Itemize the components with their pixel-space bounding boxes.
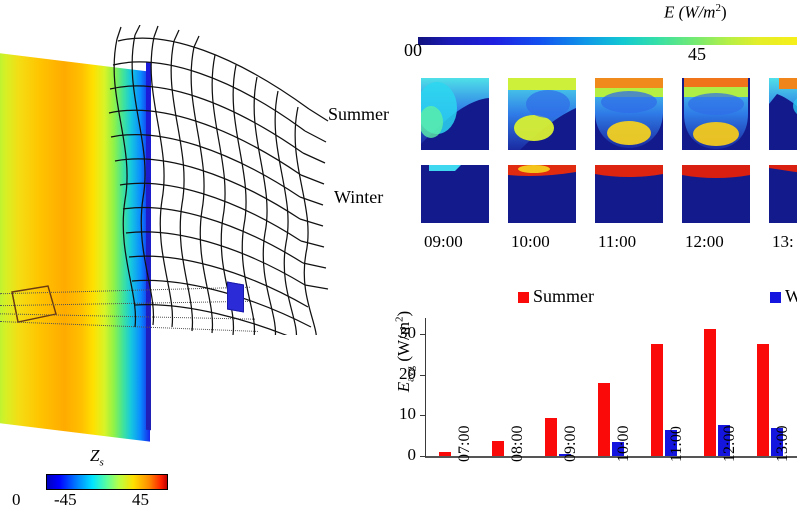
y-tick-label-0: 0	[390, 445, 416, 465]
tile-column-label-1: 10:00	[511, 232, 550, 252]
legend-swatch-w	[770, 292, 781, 303]
irradiance-colorbar-min-label: 00	[404, 40, 422, 61]
legend-label-summer: Summer	[533, 286, 594, 307]
y-tick-label-20: 20	[390, 364, 416, 384]
irradiance-colorbar-gradient	[418, 37, 797, 45]
row-label-winter: Winter	[334, 187, 383, 208]
zs-colorbar-gradient	[46, 474, 168, 490]
thermal-tile-winter-4	[769, 165, 797, 223]
row-label-summer: Summer	[328, 104, 389, 125]
irradiance-colorbar-max-label: 45	[688, 44, 706, 65]
thermal-tile-winter-1	[508, 165, 576, 223]
zs-colorbar-title: Zs	[90, 446, 104, 468]
y-tick-label-10: 10	[390, 404, 416, 424]
tile-column-label-3: 12:00	[685, 232, 724, 252]
legend-label-w: W	[785, 286, 797, 307]
zs-max-label: 45	[132, 490, 149, 510]
tile-column-label-4: 13:	[772, 232, 794, 252]
thermal-tile-summer-1	[508, 78, 576, 150]
thermal-tile-winter-2	[595, 165, 663, 223]
bar-summer-0700	[439, 452, 451, 456]
thermal-tile-winter-0	[421, 165, 489, 223]
thermal-tile-winter-3	[682, 165, 750, 223]
x-tick-label-5: 12:00	[721, 426, 739, 462]
x-tick-label-2: 09:00	[562, 426, 580, 462]
zs-min-label: -45	[54, 490, 77, 510]
thermal-tile-summer-3	[682, 78, 750, 150]
bar-summer-1300	[757, 344, 769, 456]
x-tick-label-3: 10:00	[615, 426, 633, 462]
legend-swatch-summer	[518, 292, 529, 303]
y-tick-20	[420, 375, 426, 376]
y-tick-0	[420, 456, 426, 457]
highlighted-mesh-cell	[227, 282, 244, 313]
x-tick-label-6: 13:00	[774, 426, 792, 462]
zs-extra-left-label: 0	[12, 490, 21, 510]
x-tick-label-0: 07:00	[456, 426, 474, 462]
panel-3d-surface: Zs 0 -45 45	[0, 0, 330, 532]
x-axis-line	[425, 456, 797, 458]
bar-chart: Eavg (W/m2) 0102030 07:0008:0009:0010:00…	[390, 300, 797, 532]
figure-root: Zs 0 -45 45 E (W/m2) 00 45 Summer Winter	[0, 0, 797, 532]
y-axis-line	[425, 318, 426, 456]
tile-column-label-0: 09:00	[424, 232, 463, 252]
bar-summer-1000	[598, 383, 610, 456]
irradiance-colorbar-title: E (W/m2)	[664, 2, 727, 23]
x-tick-label-1: 08:00	[509, 426, 527, 462]
y-tick-30	[420, 334, 426, 335]
thermal-tile-summer-0	[421, 78, 489, 150]
bar-summer-0800	[492, 441, 504, 456]
y-tick-label-30: 30	[390, 323, 416, 343]
thermal-tile-summer-2	[595, 78, 663, 150]
x-tick-label-4: 11:00	[668, 426, 686, 462]
bar-summer-0900	[545, 418, 557, 456]
y-tick-10	[420, 415, 426, 416]
bar-summer-1200	[704, 329, 716, 456]
bar-summer-1100	[651, 344, 663, 456]
thermal-tile-summer-4	[769, 78, 797, 150]
wireframe-mesh	[95, 25, 330, 335]
tile-column-label-2: 11:00	[598, 232, 636, 252]
